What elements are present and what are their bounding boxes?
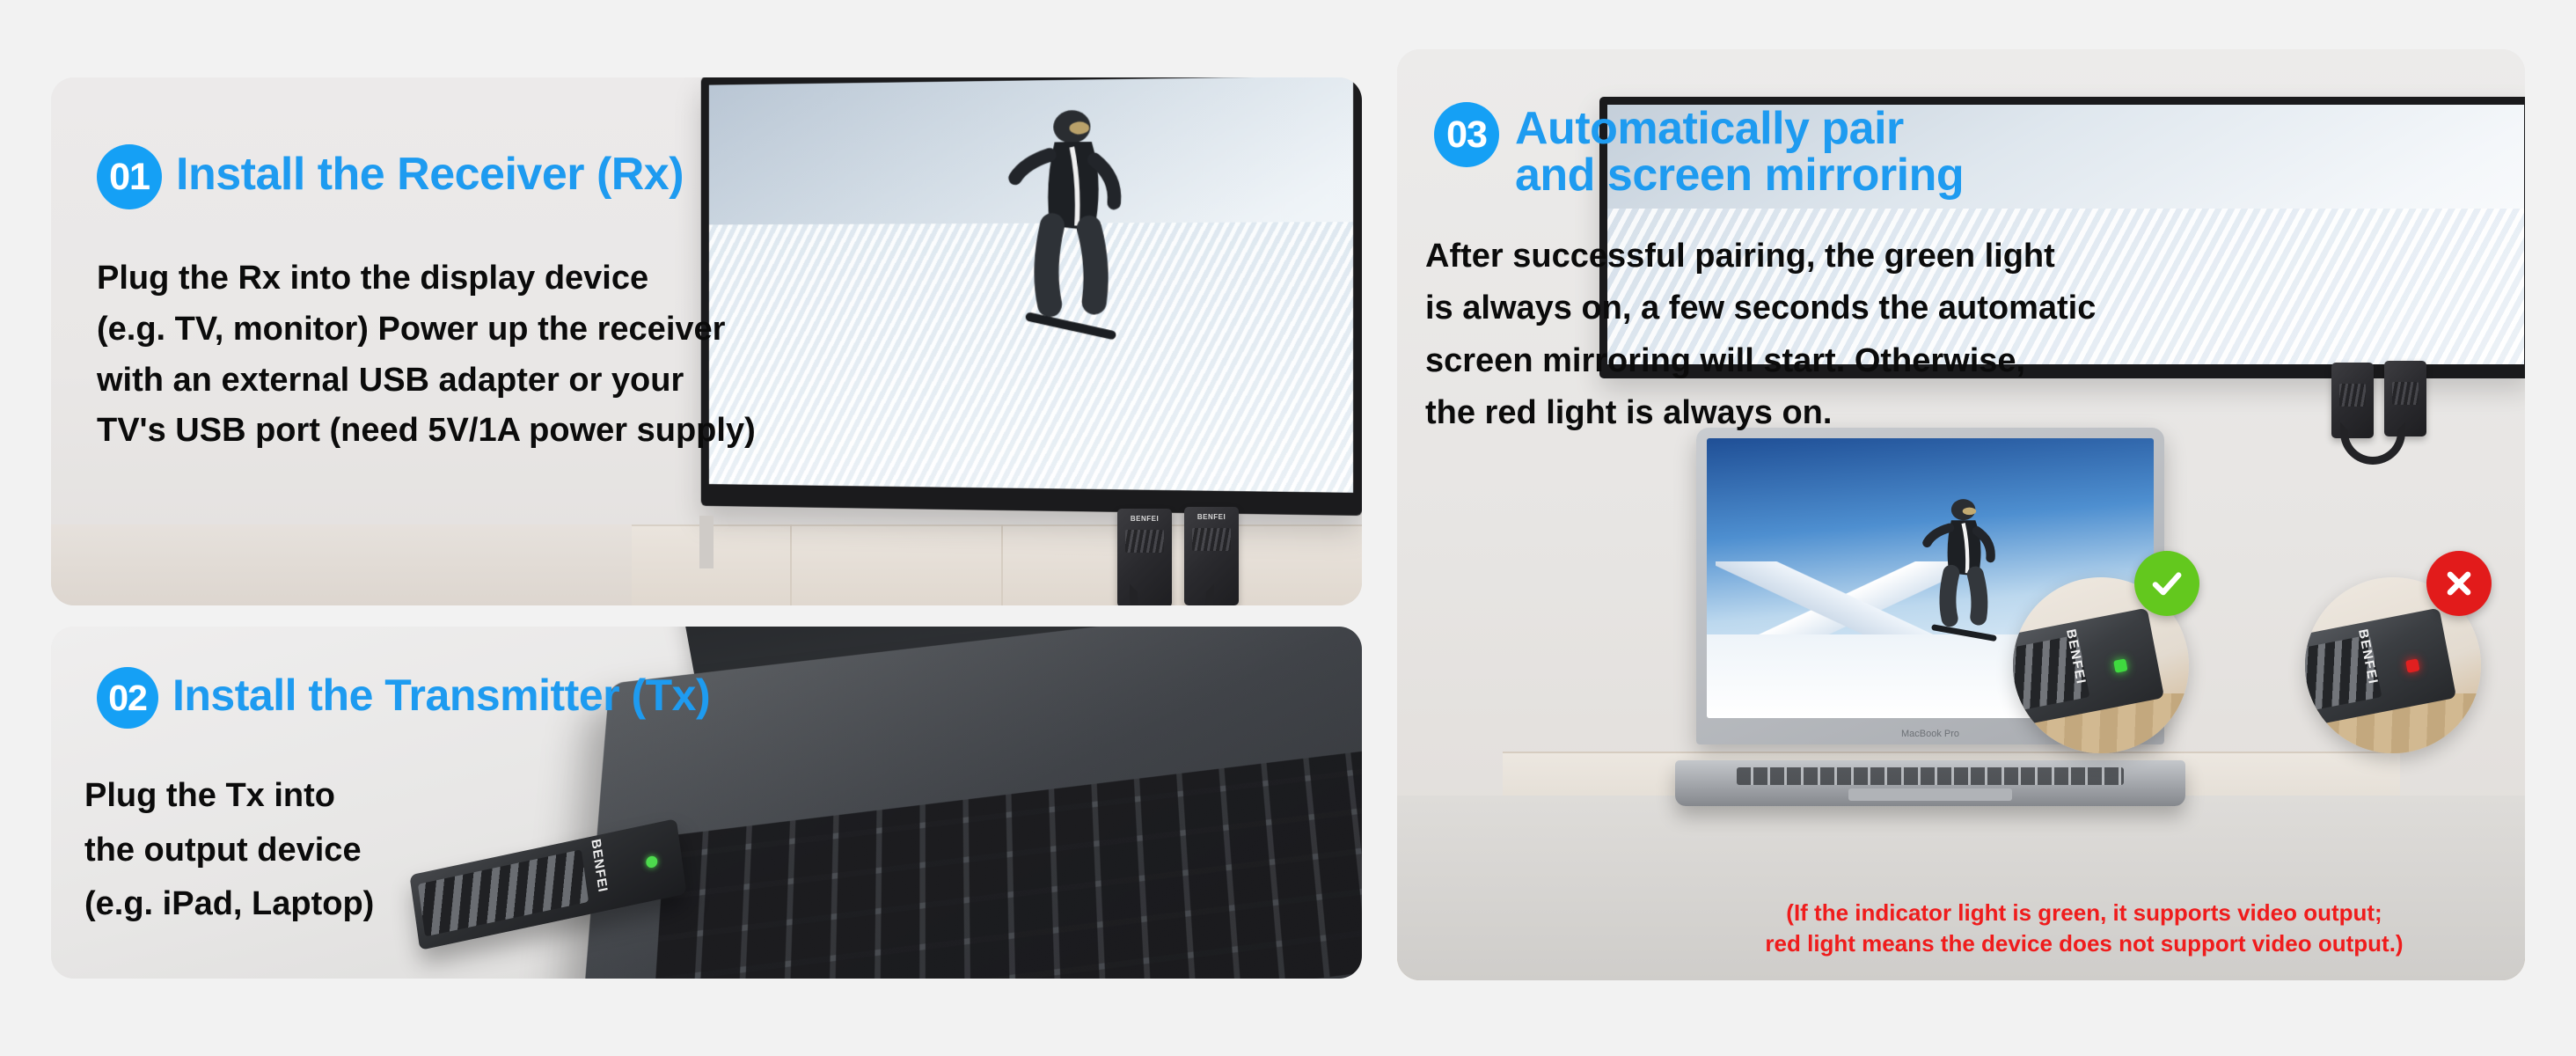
dongle-vents-3b [2392, 382, 2419, 405]
dongle-brand-label-2: BENFEI [1184, 513, 1239, 521]
step-body-03: After successful pairing, the green ligh… [1425, 231, 2096, 439]
step-02-header: 02 Install the Transmitter (Tx) [97, 667, 710, 729]
macbook-keyboard [1737, 767, 2125, 785]
dongle-vents-3a [2339, 384, 2366, 407]
usb-cable [1130, 584, 1214, 605]
transmitter-led-green [646, 855, 659, 869]
skier-figure-icon [985, 103, 1153, 358]
step-number-badge-02: 02 [97, 667, 158, 729]
step-number-badge-01: 01 [97, 144, 162, 209]
laptop-keyboard [650, 751, 1362, 979]
tv-stand [699, 516, 714, 568]
indicator-light-warning-note: (If the indicator light is green, it sup… [1397, 898, 2525, 959]
cross-mark-icon [2426, 551, 2492, 616]
dongle-vents [1125, 530, 1164, 553]
television [701, 77, 1362, 516]
step-panel-01: BENFEI BENFEI 01 Install the Receiver (R… [51, 77, 1362, 605]
step-body-02: Plug the Tx into the output device (e.g.… [84, 769, 374, 932]
step-01-header: 01 Install the Receiver (Rx) [97, 144, 684, 209]
check-glyph [2148, 565, 2185, 602]
tv-screen [709, 77, 1353, 493]
inset-led-green [2114, 658, 2128, 672]
transmitter-brand-label: BENFEI [588, 838, 610, 894]
step-title-02: Install the Transmitter (Tx) [172, 667, 710, 718]
macbook-trackpad [1848, 788, 2012, 801]
infographic-page: BENFEI BENFEI 01 Install the Receiver (R… [0, 0, 2576, 1056]
skier-figure-icon-3 [1913, 495, 2011, 646]
step-body-01: Plug the Rx into the display device (e.g… [97, 253, 756, 457]
step-panel-02: BENFEI 02 Install the Transmitter (Tx) P… [51, 627, 1362, 979]
step-03-header: 03 Automatically pair and screen mirrori… [1434, 102, 1964, 199]
macbook-base [1675, 760, 2185, 806]
step-number-badge-03: 03 [1434, 102, 1499, 167]
step-title-03: Automatically pair and screen mirroring [1515, 102, 1964, 199]
step-title-01: Install the Receiver (Rx) [176, 144, 684, 198]
dongle-brand-label: BENFEI [1117, 515, 1172, 523]
step-panel-03: MacBook Pro BENFEI [1397, 49, 2525, 980]
check-mark-icon [2134, 551, 2199, 616]
inset-led-red [2406, 658, 2420, 672]
cross-glyph [2441, 566, 2477, 601]
dongle-vents-2 [1192, 528, 1231, 551]
cabinet [632, 524, 1362, 605]
